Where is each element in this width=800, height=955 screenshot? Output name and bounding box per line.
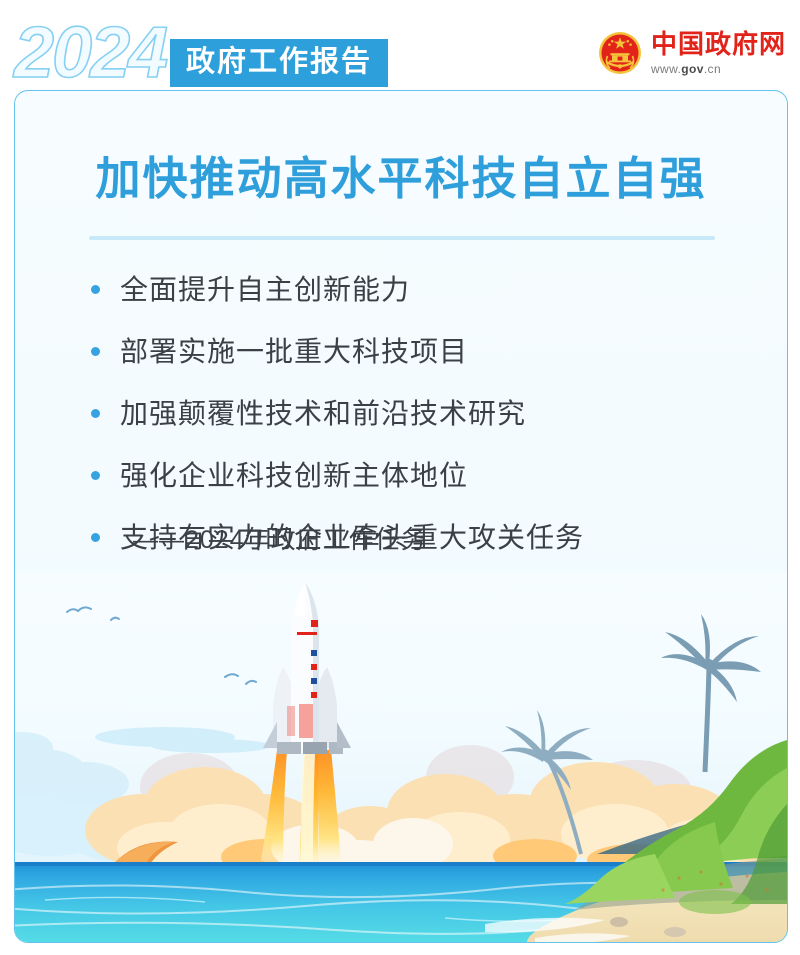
china-national-emblem-icon	[598, 31, 642, 75]
report-badge: 政府工作报告	[170, 39, 388, 87]
bullet-dot-icon	[91, 285, 100, 294]
url-prefix: www.	[651, 62, 681, 76]
gov-logo[interactable]: 中国政府网 www.gov.cn	[598, 30, 786, 75]
list-item: 全面提升自主创新能力	[77, 271, 777, 309]
page-title: 加快推动高水平科技自立自强	[15, 153, 787, 205]
bullet-dot-icon	[91, 409, 100, 418]
list-item-label: 部署实施一批重大科技项目	[120, 333, 468, 371]
source-attribution: ——2024年政府工作任务	[133, 523, 427, 557]
content-card: 加快推动高水平科技自立自强 全面提升自主创新能力 部署实施一批重大科技项目 加强…	[14, 90, 788, 943]
illustration-scene	[15, 572, 787, 942]
site-url: www.gov.cn	[651, 63, 721, 75]
list-item-label: 强化企业科技创新主体地位	[120, 457, 468, 495]
list-item: 强化企业科技创新主体地位	[77, 457, 777, 495]
url-mid: gov	[681, 62, 704, 76]
list-item: 加强颠覆性技术和前沿技术研究	[77, 395, 777, 433]
bullet-dot-icon	[91, 533, 100, 542]
list-item-label: 全面提升自主创新能力	[120, 271, 410, 309]
list-item-label: 加强颠覆性技术和前沿技术研究	[120, 395, 526, 433]
bullet-dot-icon	[91, 471, 100, 480]
header: 2024 政府工作报告	[0, 0, 800, 100]
bullet-dot-icon	[91, 347, 100, 356]
title-divider	[89, 236, 715, 240]
list-item: 部署实施一批重大科技项目	[77, 333, 777, 371]
site-name: 中国政府网	[651, 30, 786, 58]
logo-text-block: 中国政府网 www.gov.cn	[651, 30, 786, 75]
year-outline-text: 2024	[14, 17, 166, 89]
poster-root: 2024 政府工作报告	[0, 0, 800, 955]
url-suffix: .cn	[704, 62, 721, 76]
